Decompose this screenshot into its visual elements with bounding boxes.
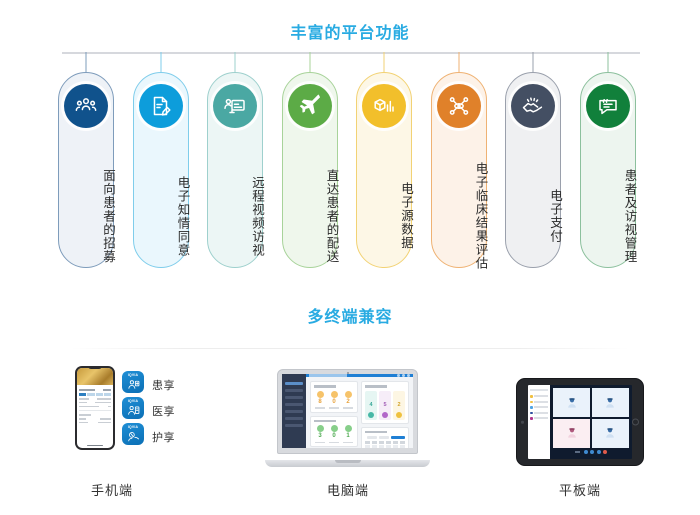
share-button[interactable]	[597, 450, 601, 454]
phone-info-row	[79, 422, 111, 424]
dashboard-body: 8 0 2 3 0 1	[306, 377, 413, 448]
participant-item[interactable]	[530, 417, 548, 420]
app-brand: IQVIA	[128, 373, 138, 377]
phone-header-action	[103, 389, 111, 391]
todo-count: 2	[397, 402, 400, 408]
app-label: 医享	[152, 403, 175, 419]
todo-item[interactable]: 5	[379, 391, 391, 420]
camera-button[interactable]	[590, 450, 594, 454]
sidebar-item[interactable]	[285, 410, 303, 413]
todo-icon	[382, 412, 388, 418]
phone-form-row	[79, 402, 111, 404]
stat-label	[343, 407, 353, 409]
dashboard-sidebar[interactable]	[282, 374, 306, 448]
app-glyph-icon	[127, 430, 140, 443]
phone-app-header	[79, 387, 111, 392]
phone-field-value	[95, 402, 111, 404]
phone-home-indicator	[87, 445, 103, 447]
stat-value: 1	[342, 433, 354, 440]
stat-row: 3 0 1	[314, 425, 354, 443]
card-title	[365, 431, 387, 434]
participant-name	[534, 395, 548, 397]
phone-caption: 手机端	[52, 480, 172, 499]
participant-item[interactable]	[530, 406, 548, 409]
phone-tab[interactable]	[87, 393, 94, 396]
sidebar-item[interactable]	[285, 389, 303, 392]
feature-column-8[interactable]: 患者及访视管理	[580, 52, 636, 282]
stat-cell: 3	[314, 425, 326, 443]
tablet-video-area	[550, 385, 632, 459]
participant-item[interactable]	[530, 401, 548, 404]
stat-icon	[317, 391, 324, 398]
feature-column-3[interactable]: 远程视频访视	[207, 52, 263, 282]
phone-notch	[88, 366, 102, 369]
video-tile[interactable]	[553, 388, 590, 417]
todo-icon	[368, 412, 374, 418]
features-section-title: 丰富的平台功能	[0, 19, 700, 43]
stat-cell: 0	[328, 391, 340, 409]
stat-value: 0	[328, 433, 340, 440]
feature-label: 面向患者的招募	[59, 151, 115, 281]
chat-bubble-icon	[586, 84, 630, 128]
participant-name	[534, 412, 548, 414]
phone-tab-bar[interactable]	[79, 393, 111, 396]
status-card: 3 0 1	[310, 416, 358, 448]
phone-info-rows	[79, 414, 111, 423]
todo-card: 4 5 2	[361, 381, 409, 424]
phone-field-label	[79, 398, 89, 400]
participant-item[interactable]	[530, 412, 548, 415]
video-tile[interactable]	[592, 388, 629, 417]
feature-column-7[interactable]: 电子支付	[505, 52, 561, 282]
nurse-app-icon[interactable]: IQVIA	[122, 423, 144, 445]
phone-tab[interactable]	[104, 393, 111, 396]
laptop-caption: 电脑端	[288, 480, 408, 499]
people-group-icon	[64, 84, 108, 128]
slide-root: 丰富的平台功能 面向患者的招募电子知情同意远程视频访视直达患者的配送电子源数据电…	[0, 0, 700, 515]
dashboard-right-column: 4 5 2	[361, 381, 409, 448]
participant-name	[534, 406, 548, 408]
app-glyph-icon	[127, 404, 140, 417]
doctor-app-icon[interactable]: IQVIA	[122, 397, 144, 419]
tablet-participant-list[interactable]	[528, 385, 550, 459]
feature-label: 患者及访视管理	[581, 151, 637, 281]
stat-cell: 0	[328, 425, 340, 443]
document-sign-icon	[139, 84, 183, 128]
phone-field-label	[79, 402, 87, 404]
laptop-trackpad-notch	[335, 460, 361, 463]
stat-icon	[331, 425, 338, 432]
airplane-icon	[288, 84, 332, 128]
stat-icon	[345, 425, 352, 432]
feature-label: 电子支付	[506, 151, 562, 281]
tablet-screen	[528, 385, 632, 459]
laptop-lid: 8 0 2 3 0 1	[277, 369, 418, 454]
card-title	[365, 385, 387, 388]
phone-form-row	[79, 398, 111, 400]
timer-label	[575, 451, 580, 453]
stat-row: 8 0 2	[314, 391, 354, 409]
sidebar-item[interactable]	[285, 396, 303, 399]
laptop-device: 8 0 2 3 0 1	[265, 369, 430, 467]
participant-name	[534, 401, 548, 403]
phone-field-value	[97, 398, 111, 400]
dashboard-main: 8 0 2 3 0 1	[306, 374, 413, 448]
sidebar-item[interactable]	[285, 403, 303, 406]
stat-icon	[331, 391, 338, 398]
feature-label: 远程视频访视	[208, 151, 264, 281]
stat-icon	[345, 391, 352, 398]
phone-form-row	[79, 406, 111, 408]
end-call-button[interactable]	[603, 450, 607, 454]
phone-tab[interactable]	[96, 393, 103, 396]
video-tile[interactable]	[553, 419, 590, 448]
phone-screen	[77, 368, 113, 448]
video-control-bar[interactable]	[553, 448, 629, 456]
feature-label: 电子知情同意	[134, 151, 190, 281]
feature-columns: 面向患者的招募电子知情同意远程视频访视直达患者的配送电子源数据电子临床结果评估电…	[0, 52, 700, 282]
phone-tab[interactable]	[79, 393, 86, 396]
contact-form-card	[361, 427, 409, 449]
participant-item[interactable]	[530, 395, 548, 398]
app-label: 患享	[152, 377, 175, 393]
stat-value: 0	[328, 399, 340, 406]
feature-label: 电子源数据	[357, 151, 413, 281]
app-glyph-icon	[127, 378, 140, 391]
dashboard-left-column: 8 0 2 3 0 1	[310, 381, 358, 448]
progress-card: 8 0 2	[310, 381, 358, 413]
phone-info-label	[79, 418, 86, 420]
tablet-home-button[interactable]	[632, 419, 639, 426]
status-dot	[530, 417, 533, 420]
feature-label: 直达患者的配送	[283, 151, 339, 281]
add-button[interactable]	[391, 436, 405, 439]
stat-value: 2	[342, 399, 354, 406]
phone-hero-image	[77, 368, 113, 385]
app-brand: IQVIA	[128, 399, 138, 403]
participant-list-title	[530, 389, 548, 391]
stat-value: 8	[314, 399, 326, 406]
sidebar-item[interactable]	[285, 382, 303, 385]
phone-divider	[79, 410, 111, 411]
phone-field-value	[108, 406, 111, 408]
status-dot	[530, 401, 533, 404]
phone-field-label	[79, 406, 99, 408]
status-dot	[530, 395, 533, 398]
stat-label	[329, 407, 339, 409]
stat-cell: 2	[342, 391, 354, 409]
mic-button[interactable]	[584, 450, 588, 454]
data-table	[365, 441, 405, 448]
table-header-row	[365, 441, 405, 443]
sidebar-item[interactable]	[285, 424, 303, 427]
stat-cell: 1	[342, 425, 354, 443]
export-button[interactable]	[379, 436, 389, 439]
feature-column-5[interactable]: 电子源数据	[356, 52, 412, 282]
tablet-camera-icon	[521, 421, 524, 424]
status-dot	[530, 412, 533, 415]
table-row[interactable]	[365, 445, 405, 447]
table-toolbar[interactable]	[365, 436, 405, 439]
laptop-base	[265, 460, 430, 467]
phone-info-row	[79, 418, 111, 420]
feature-column-2[interactable]: 电子知情同意	[133, 52, 189, 282]
phone-info-label	[79, 422, 88, 424]
video-call-icon	[213, 84, 257, 128]
feature-label: 电子临床结果评估	[432, 151, 488, 281]
feature-column-4[interactable]: 直达患者的配送	[282, 52, 338, 282]
phone-info-value	[98, 422, 111, 424]
phone-info-value	[100, 418, 111, 420]
todo-count: 4	[369, 402, 372, 408]
todo-count: 5	[383, 402, 386, 408]
feature-column-6[interactable]: 电子临床结果评估	[431, 52, 487, 282]
handshake-pay-icon	[511, 84, 555, 128]
stat-label	[329, 442, 339, 444]
phone-info-label	[79, 414, 91, 416]
todo-item[interactable]: 4	[365, 391, 377, 420]
app-brand: IQVIA	[128, 425, 138, 429]
sidebar-item[interactable]	[285, 417, 303, 420]
participant-name	[534, 417, 548, 419]
tablet-device	[516, 378, 644, 466]
stat-label	[343, 442, 353, 444]
phone-device	[75, 366, 115, 450]
video-tile[interactable]	[592, 419, 629, 448]
phone-form-rows	[79, 398, 111, 407]
network-nodes-icon	[437, 84, 481, 128]
phone-header-title	[79, 389, 95, 391]
stat-value: 3	[314, 433, 326, 440]
phone-info-row	[79, 414, 111, 416]
laptop-screen: 8 0 2 3 0 1	[282, 374, 413, 448]
video-grid	[553, 388, 629, 448]
data-box-chart-icon	[362, 84, 406, 128]
stat-icon	[317, 425, 324, 432]
todo-row: 4 5 2	[365, 391, 405, 420]
app-label: 护享	[152, 429, 175, 445]
section-divider	[70, 348, 630, 349]
stat-cell: 8	[314, 391, 326, 409]
tablet-caption: 平板端	[520, 480, 640, 499]
status-dot	[530, 406, 533, 409]
devices-section-title: 多终端兼容	[0, 303, 700, 327]
card-title	[314, 420, 336, 423]
todo-item[interactable]: 2	[393, 391, 405, 420]
patient-app-icon[interactable]: IQVIA	[122, 371, 144, 393]
card-title	[314, 385, 336, 388]
stat-label	[315, 442, 325, 444]
filter-button[interactable]	[367, 436, 377, 439]
stat-label	[315, 407, 325, 409]
feature-column-1[interactable]: 面向患者的招募	[58, 52, 114, 282]
todo-icon	[396, 412, 402, 418]
